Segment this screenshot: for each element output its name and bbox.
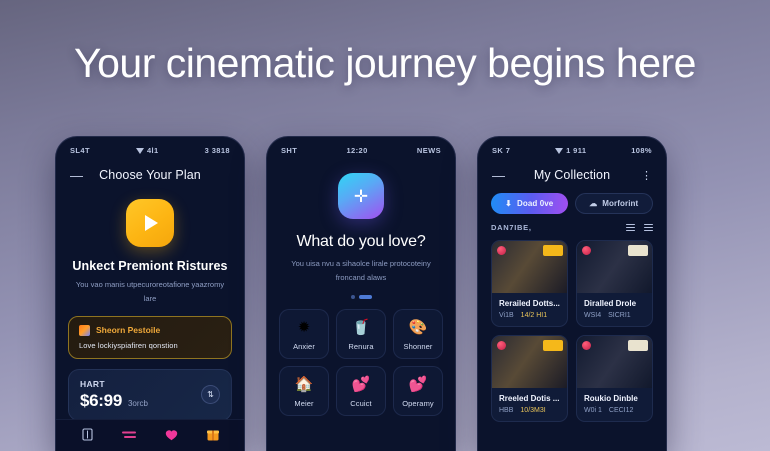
status-bar: SK 7 1 911 108% (478, 137, 666, 159)
media-card[interactable]: Roukio Dinble W0i 1 CECI12 (576, 335, 653, 422)
overflow-menu-icon[interactable]: ⋮ (640, 169, 652, 182)
home-icon: 🏠 (295, 376, 314, 393)
record-badge-icon (497, 246, 506, 255)
media-card-body: Roukio Dinble W0i 1 CECI12 (577, 388, 652, 421)
pagination-dot-active[interactable] (359, 295, 372, 299)
wifi-icon (136, 148, 144, 154)
status-battery: 3 3818 (205, 146, 230, 155)
price-card[interactable]: HART $6:99 3orcb ⇅ (68, 369, 232, 421)
colorwheel-icon: 🎨 (409, 319, 428, 336)
hearts-icon: 💕 (409, 376, 428, 393)
media-title: Rerailed Dotts... (499, 299, 560, 308)
media-card-body: Rerailed Dotts... Vi1B 14/2 HI1 (492, 293, 567, 326)
cloud-icon: ☁ (589, 199, 597, 208)
chevron-updown-icon[interactable]: ⇅ (201, 385, 220, 404)
media-card[interactable]: Rerailed Dotts... Vi1B 14/2 HI1 (491, 240, 568, 327)
category-label: Renura (348, 342, 373, 351)
tab-downloaded[interactable]: ⬇ Doad 0ve (491, 193, 568, 214)
promo-title: Sheorn Pestoile (96, 325, 160, 335)
download-icon: ⬇ (505, 199, 512, 208)
section-label: DAN7IBE, (491, 223, 532, 232)
play-button-icon[interactable] (126, 199, 174, 247)
price-period: 3orcb (128, 399, 148, 408)
status-center: 4l1 (136, 146, 159, 155)
category-label: Operamy (402, 399, 434, 408)
nav-item-gift[interactable] (206, 427, 220, 442)
nav-item-list[interactable] (122, 427, 136, 442)
app-bar: — My Collection ⋮ (478, 159, 666, 185)
status-center: 1 911 (555, 146, 586, 155)
status-clock: 12:20 (346, 146, 367, 155)
media-meta-right: SICRI1 (608, 312, 631, 319)
phone-mockup-choose-plan: SL4T 4l1 3 3818 — Choose Your Plan Unkec… (55, 136, 245, 451)
screen-subtitle: You uisa nvu a sihaolce lirale protocote… (267, 257, 455, 286)
segmented-tabs: ⬇ Doad 0ve ☁ Morforint (478, 185, 666, 214)
status-battery: NEWS (417, 146, 441, 155)
category-label: Ccuict (350, 399, 371, 408)
record-badge-icon (497, 341, 506, 350)
category-label: Shonner (403, 342, 432, 351)
media-meta: Vi1B 14/2 HI1 (499, 312, 560, 319)
media-meta: WSI4 SICRI1 (584, 312, 645, 319)
pagination-dot[interactable] (351, 295, 355, 299)
label-tag-icon (543, 340, 563, 351)
category-card-ccuict[interactable]: 💕 Ccuict (336, 366, 386, 416)
price-amount: $6:99 (80, 391, 122, 411)
hero-title: Unkect Premiont Ristures (56, 259, 244, 273)
label-tag-icon (543, 245, 563, 256)
phone-mockup-my-collection: SK 7 1 911 108% — My Collection ⋮ ⬇ Doad… (477, 136, 667, 451)
label-tag-icon (628, 340, 648, 351)
media-card-grid: Rerailed Dotts... Vi1B 14/2 HI1 Diralled… (478, 232, 666, 422)
media-meta-right: 10/3M3I (520, 407, 545, 414)
list-view-icon[interactable] (626, 224, 635, 232)
promo-card[interactable]: Sheorn Pestoile Love lockiyspiafiren qon… (68, 316, 232, 359)
view-toggle-group (626, 224, 653, 232)
media-thumbnail (577, 241, 652, 293)
promo-description: Love lockiyspiafiren qonstion (79, 341, 221, 350)
media-title: Roukio Dinble (584, 394, 645, 403)
phone-mockups-stage: SL4T 4l1 3 3818 — Choose Your Plan Unkec… (0, 136, 770, 451)
status-bar: SHT 12:20 NEWS (267, 137, 455, 159)
nav-item-library[interactable] (80, 427, 94, 442)
section-header: DAN7IBE, (478, 214, 666, 232)
category-card-operamy[interactable]: 💕 Operamy (393, 366, 443, 416)
status-bar: SL4T 4l1 3 3818 (56, 137, 244, 159)
hearts-icon: 💕 (352, 376, 371, 393)
status-carrier: SHT (281, 146, 297, 155)
media-thumbnail (492, 336, 567, 388)
bottom-nav-bar (56, 419, 244, 451)
wifi-icon (555, 148, 563, 154)
price-info: HART $6:99 3orcb (80, 379, 148, 411)
phone-mockup-what-you-love: SHT 12:20 NEWS ✛ What do you love? You u… (266, 136, 456, 451)
page-title: My Collection (512, 168, 632, 182)
media-card-body: Diralled Drole WSI4 SICRI1 (577, 293, 652, 326)
media-card-body: Rreeled Dotis ... HBB 10/3M3I (492, 388, 567, 421)
media-thumbnail (492, 241, 567, 293)
category-label: Meier (294, 399, 313, 408)
media-meta-left: Vi1B (499, 312, 514, 319)
status-clock: 1 911 (566, 146, 586, 155)
page-title: Choose Your Plan (90, 168, 210, 182)
record-badge-icon (582, 246, 591, 255)
status-center: 12:20 (346, 146, 367, 155)
media-meta-left: WSI4 (584, 312, 601, 319)
nav-item-favorites[interactable] (164, 427, 178, 442)
category-card-meier[interactable]: 🏠 Meier (279, 366, 329, 416)
price-row: $6:99 3orcb (80, 391, 148, 411)
record-badge-icon (582, 341, 591, 350)
grid-view-icon[interactable] (644, 224, 653, 232)
play-triangle (145, 215, 158, 231)
app-bar: — Choose Your Plan (56, 159, 244, 185)
hero-subtitle: You vao manis utpecuroreotafione yaazrom… (56, 278, 244, 306)
status-carrier: SK 7 (492, 146, 510, 155)
status-signal-text: 4l1 (147, 146, 159, 155)
sparkle-glyph: ✛ (354, 188, 368, 205)
promo-header: Sheorn Pestoile (79, 325, 221, 336)
back-arrow-icon[interactable]: — (492, 169, 504, 182)
media-meta: W0i 1 CECI12 (584, 407, 645, 414)
category-label: Anxier (293, 342, 315, 351)
category-card-anxier[interactable]: ✹ Anxier (279, 309, 329, 359)
sparkle-burst-icon: ✹ (298, 319, 311, 336)
category-grid: ✹ Anxier 🥤 Renura 🎨 Shonner 🏠 Meier 💕 Cc… (267, 299, 455, 416)
screen-title: What do you love? (267, 233, 455, 251)
sparkle-icon: ✛ (338, 173, 384, 219)
promo-square-icon (79, 325, 90, 336)
tab-label: Doad 0ve (517, 199, 553, 208)
plan-name: HART (80, 379, 148, 389)
tab-label: Morforint (602, 199, 638, 208)
category-card-renura[interactable]: 🥤 Renura (336, 309, 386, 359)
popcorn-icon: 🥤 (352, 319, 371, 336)
page-headline: Your cinematic journey begins here (0, 40, 770, 87)
media-meta-right: 14/2 HI1 (521, 312, 547, 319)
media-card[interactable]: Diralled Drole WSI4 SICRI1 (576, 240, 653, 327)
label-tag-icon (628, 245, 648, 256)
media-meta-left: W0i 1 (584, 407, 602, 414)
category-card-shonner[interactable]: 🎨 Shonner (393, 309, 443, 359)
media-card[interactable]: Rreeled Dotis ... HBB 10/3M3I (491, 335, 568, 422)
media-title: Rreeled Dotis ... (499, 394, 560, 403)
tab-morforint[interactable]: ☁ Morforint (575, 193, 654, 214)
status-carrier: SL4T (70, 146, 90, 155)
media-meta: HBB 10/3M3I (499, 407, 560, 414)
media-title: Diralled Drole (584, 299, 645, 308)
media-meta-left: HBB (499, 407, 513, 414)
status-battery: 108% (631, 146, 652, 155)
media-meta-right: CECI12 (609, 407, 634, 414)
back-arrow-icon[interactable]: — (70, 169, 82, 182)
media-thumbnail (577, 336, 652, 388)
